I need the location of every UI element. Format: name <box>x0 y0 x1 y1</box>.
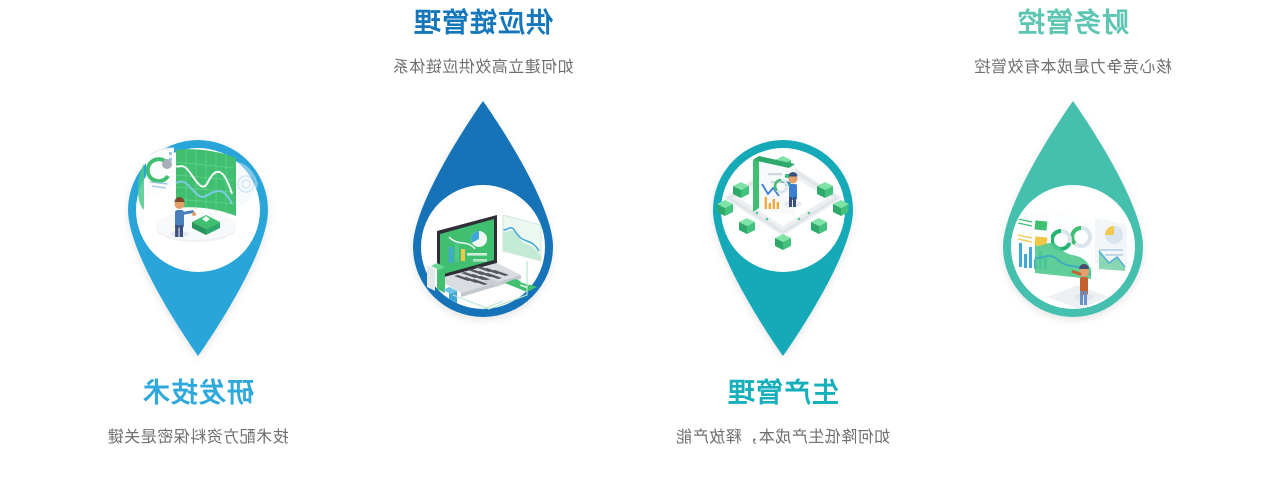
feature-column-production[interactable]: 生产管理 如何降低生产成本，释放产能 <box>633 112 933 447</box>
isometric-factory-illustration-icon <box>717 134 849 266</box>
feature-title-production: 生产管理 <box>633 378 933 409</box>
feature-subtitle-supply: 如何建立高效供应链体系 <box>333 53 633 77</box>
pin-production[interactable] <box>693 112 873 362</box>
illustration-rd <box>132 134 264 266</box>
pin-rd[interactable] <box>108 112 288 362</box>
diagram-canvas: 财务管控 核心竞争力是成本有效管控 <box>0 0 1263 488</box>
laptop-data-illustration-icon <box>417 191 549 323</box>
feature-title-rd: 研发技术 <box>48 378 348 409</box>
feature-subtitle-production: 如何降低生产成本，释放产能 <box>633 423 933 447</box>
pin-supply[interactable] <box>393 95 573 345</box>
pin-finance[interactable] <box>983 95 1163 345</box>
rd-screens-illustration-icon <box>132 134 264 266</box>
dashboard-analytics-illustration-icon <box>1007 191 1139 323</box>
feature-subtitle-finance: 核心竞争力是成本有效管控 <box>923 53 1223 77</box>
feature-column-supply[interactable]: 供应链管理 如何建立高效供应链体系 <box>333 8 633 345</box>
feature-column-rd[interactable]: 研发技术 技术配方资料保密是关键 <box>48 112 348 447</box>
feature-subtitle-rd: 技术配方资料保密是关键 <box>48 423 348 447</box>
illustration-finance <box>1007 191 1139 323</box>
illustration-supply <box>417 191 549 323</box>
feature-title-finance: 财务管控 <box>923 8 1223 39</box>
feature-title-supply: 供应链管理 <box>333 8 633 39</box>
illustration-production <box>717 134 849 266</box>
feature-column-finance[interactable]: 财务管控 核心竞争力是成本有效管控 <box>923 8 1223 345</box>
